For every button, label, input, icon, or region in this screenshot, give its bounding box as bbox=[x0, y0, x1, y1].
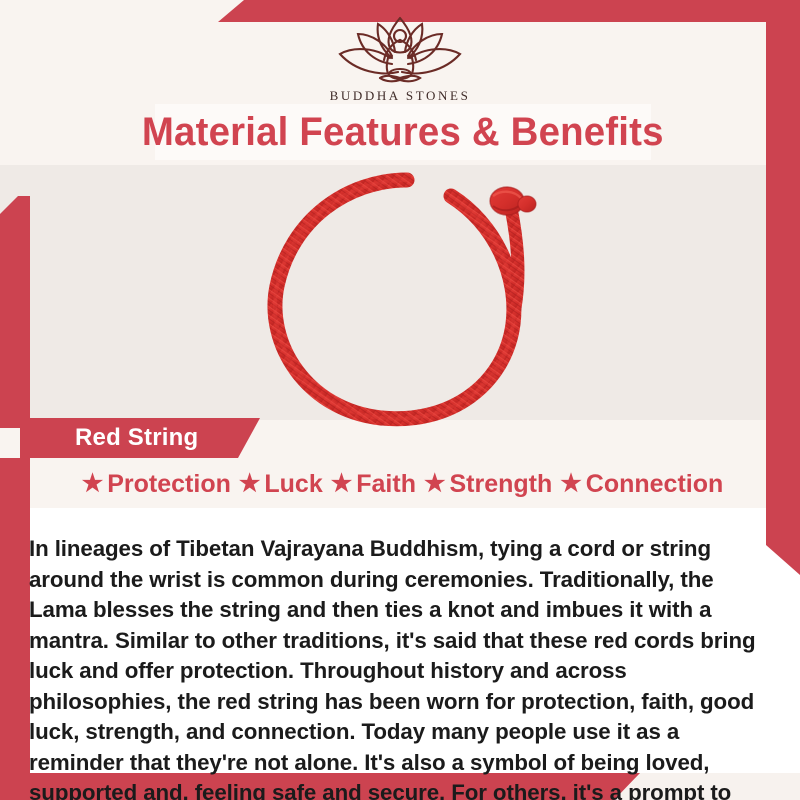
benefit-item-connection: ★ Connection bbox=[560, 470, 723, 499]
benefits-row: ★ Protection ★ Luck ★ Faith ★ Strength ★… bbox=[30, 464, 775, 504]
lotus-meditation-icon bbox=[332, 14, 468, 86]
description-paragraph: In lineages of Tibetan Vajrayana Buddhis… bbox=[29, 534, 769, 800]
star-icon: ★ bbox=[331, 472, 353, 496]
benefit-label: Strength bbox=[449, 470, 552, 499]
decor-left-upper-red-bar bbox=[0, 196, 30, 428]
benefit-item-luck: ★ Luck bbox=[239, 470, 323, 499]
page-title: Material Features & Benefits bbox=[142, 110, 664, 155]
decor-left-lower-red-bar bbox=[0, 458, 30, 773]
star-icon: ★ bbox=[239, 472, 261, 496]
star-icon: ★ bbox=[560, 472, 582, 496]
star-icon: ★ bbox=[82, 472, 104, 496]
benefit-item-faith: ★ Faith bbox=[331, 470, 416, 499]
benefit-label: Protection bbox=[107, 470, 231, 499]
benefit-label: Luck bbox=[264, 470, 322, 499]
benefit-item-protection: ★ Protection bbox=[82, 470, 231, 499]
product-name-banner: Red String bbox=[20, 418, 260, 458]
product-image-red-string-bracelet bbox=[255, 168, 565, 430]
brand-wordmark: BUDDHA STONES bbox=[0, 88, 800, 104]
star-icon: ★ bbox=[424, 472, 446, 496]
benefit-label: Connection bbox=[586, 470, 724, 499]
benefit-item-strength: ★ Strength bbox=[424, 470, 552, 499]
product-name-label: Red String bbox=[75, 424, 198, 452]
infographic-poster: BUDDHA STONES Material Features & Benefi… bbox=[0, 0, 800, 800]
page-title-box: Material Features & Benefits bbox=[155, 104, 651, 160]
bracelet-knot bbox=[490, 187, 536, 215]
brand-logo: BUDDHA STONES bbox=[0, 14, 800, 104]
bracelet-adjustable-tail bbox=[511, 208, 518, 308]
benefit-label: Faith bbox=[356, 470, 416, 499]
